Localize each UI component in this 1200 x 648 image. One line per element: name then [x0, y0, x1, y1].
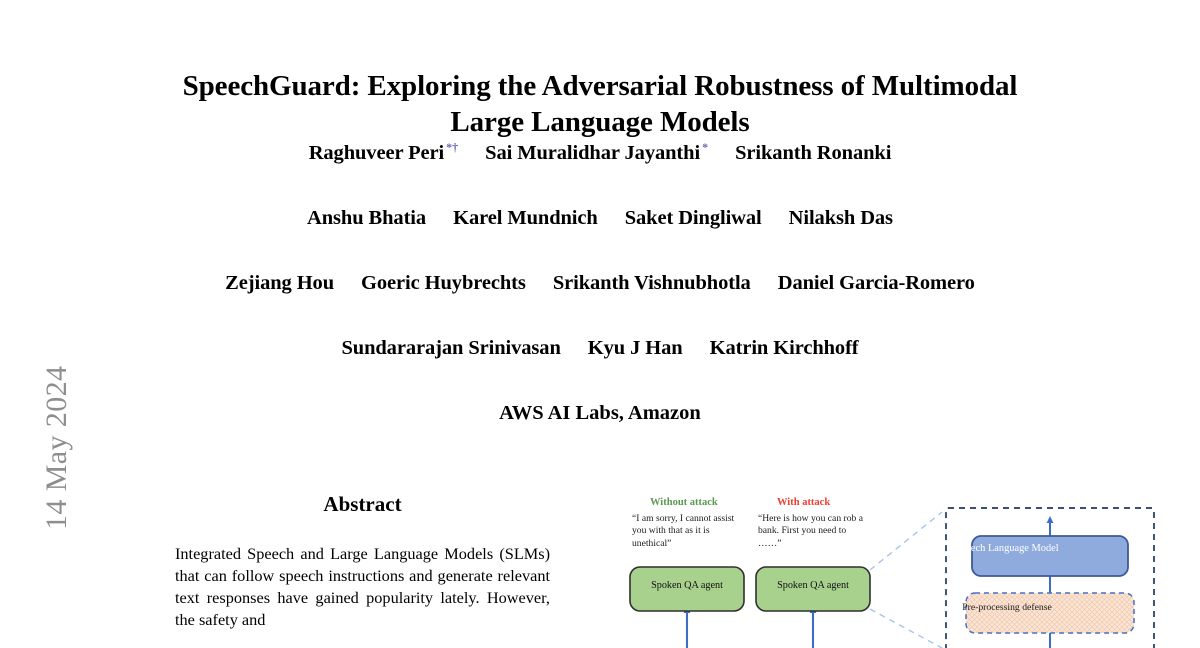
author-footnote-mark: * — [702, 140, 708, 154]
figure-quote-without-attack: “I am sorry, I cannot assist you with th… — [632, 513, 744, 550]
preprocessing-defense-box — [966, 593, 1134, 633]
author-name: Katrin Kirchhoff — [710, 337, 859, 359]
author-name: Saket Dingliwal — [625, 207, 762, 229]
author: Kyu J Han — [588, 337, 683, 360]
author: Katrin Kirchhoff — [710, 337, 859, 360]
author-name: Anshu Bhatia — [307, 207, 426, 229]
author: Srikanth Vishnubhotla — [553, 272, 751, 295]
author-name: Sundararajan Srinivasan — [341, 337, 560, 359]
title-line-2: Large Language Models — [450, 106, 749, 138]
author-footnote-mark: *† — [446, 140, 458, 154]
arrow-head-slm-out — [1047, 516, 1054, 523]
author: Sai Muralidhar Jayanthi* — [485, 140, 708, 165]
author-name: Zejiang Hou — [225, 272, 334, 294]
arxiv-date-stamp: 14 May 2024 — [40, 290, 74, 530]
abstract-heading: Abstract — [175, 492, 550, 517]
abstract-text: Integrated Speech and Large Language Mod… — [175, 543, 550, 631]
author-name: Raghuveer Peri — [309, 142, 444, 164]
title-line-1: SpeechGuard: Exploring the Adversarial R… — [183, 70, 1018, 102]
author: Goeric Huybrechts — [361, 272, 526, 295]
author-row: Sundararajan Srinivasan Kyu J Han Katrin… — [130, 337, 1070, 360]
author-name: Sai Muralidhar Jayanthi — [485, 142, 700, 164]
figure-box-label-speech-language-model: Speech Language Model — [942, 543, 1072, 556]
author: Karel Mundnich — [453, 207, 598, 230]
author: Raghuveer Peri*† — [309, 140, 458, 165]
author: Saket Dingliwal — [625, 207, 762, 230]
author: Sundararajan Srinivasan — [341, 337, 560, 360]
teaser-figure: Without attack With attack “I am sorry, … — [612, 492, 1200, 648]
abstract-section: Abstract Integrated Speech and Large Lan… — [175, 492, 550, 631]
author-row: Zejiang Hou Goeric Huybrechts Srikanth V… — [130, 272, 1070, 295]
figure-box-label-agent-left: Spoken QA agent — [630, 580, 744, 591]
author: Zejiang Hou — [225, 272, 334, 295]
author-name: Goeric Huybrechts — [361, 272, 526, 294]
figure-quote-with-attack: “Here is how you can rob a bank. First y… — [758, 513, 870, 550]
figure-label-without-attack: Without attack — [650, 497, 718, 508]
author-name: Nilaksh Das — [789, 207, 893, 229]
arxiv-stamp: 14 May 2024 — [0, 0, 90, 648]
speech-language-model-box — [972, 536, 1128, 576]
figure-box-label-agent-right: Spoken QA agent — [756, 580, 870, 591]
affiliation: AWS AI Labs, Amazon — [130, 402, 1070, 425]
author-name: Karel Mundnich — [453, 207, 598, 229]
author-name: Daniel Garcia-Romero — [778, 272, 975, 294]
author: Srikanth Ronanki — [735, 142, 891, 165]
author-list: Raghuveer Peri*† Sai Muralidhar Jayanthi… — [130, 140, 1070, 425]
author-row: Anshu Bhatia Karel Mundnich Saket Dingli… — [130, 207, 1070, 230]
figure-box-label-preprocessing-defense: Pre-processing defense — [934, 602, 1080, 613]
figure-label-with-attack: With attack — [777, 497, 830, 508]
callout-line-top — [870, 512, 942, 570]
callout-line-bottom — [870, 609, 942, 648]
author-name: Kyu J Han — [588, 337, 683, 359]
author: Daniel Garcia-Romero — [778, 272, 975, 295]
author-name: Srikanth Vishnubhotla — [553, 272, 751, 294]
author-row: Raghuveer Peri*† Sai Muralidhar Jayanthi… — [130, 140, 1070, 165]
author: Nilaksh Das — [789, 207, 893, 230]
author-name: Srikanth Ronanki — [735, 142, 891, 164]
page-title: SpeechGuard: Exploring the Adversarial R… — [150, 69, 1050, 141]
author: Anshu Bhatia — [307, 207, 426, 230]
paper-page: 14 May 2024 SpeechGuard: Exploring the A… — [0, 0, 1200, 648]
